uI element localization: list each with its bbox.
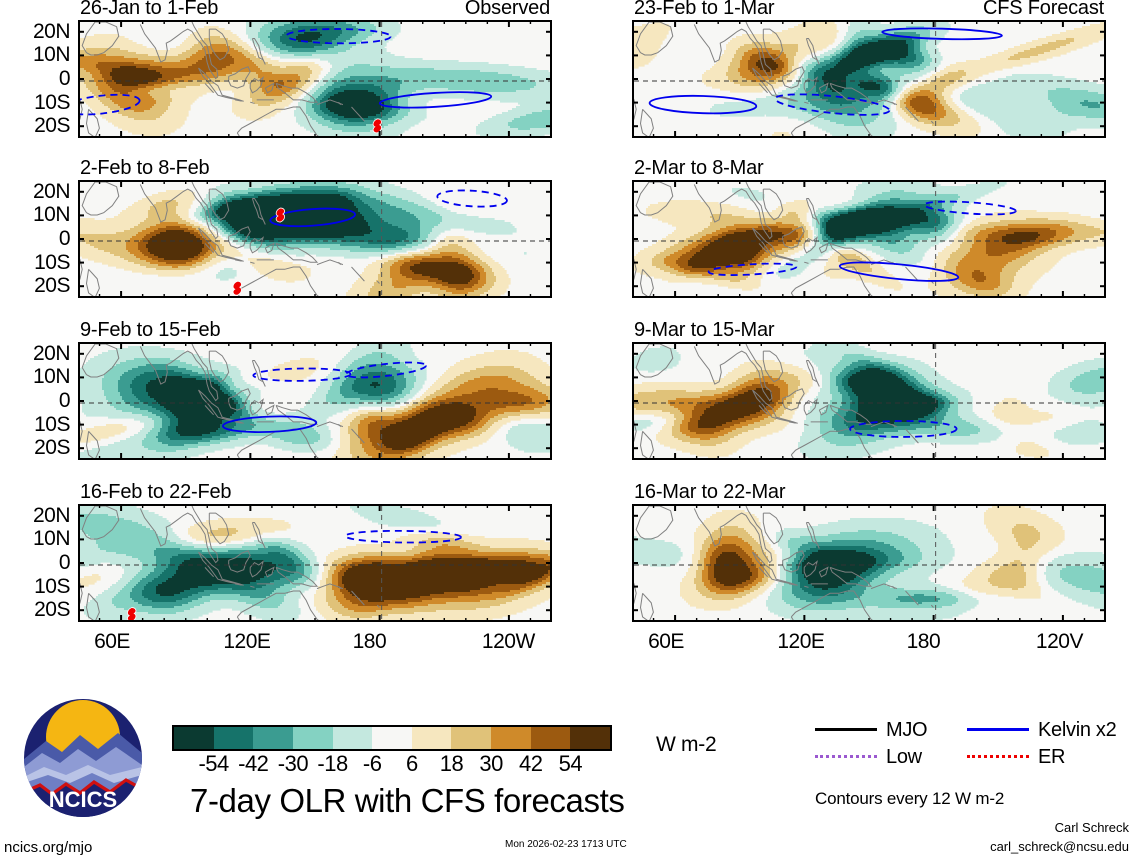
panel-title: 16-Mar to 22-Mar <box>634 482 785 502</box>
colorbar-tick-label: -30 <box>278 752 308 776</box>
axis-ticks <box>632 20 1106 138</box>
colorbar-tick-label: 6 <box>406 752 418 776</box>
colorbar-segment <box>214 727 254 749</box>
ncics-logo-text: NCICS <box>49 787 117 812</box>
contour-legend: MJOKelvin x2LowER <box>815 716 1135 770</box>
colorbar-tick-label: 30 <box>479 752 502 776</box>
legend-row: LowER <box>815 743 1135 770</box>
legend-label: ER <box>1038 747 1065 767</box>
panel-title: 26-Jan to 1-Feb <box>80 0 218 18</box>
legend-row: MJOKelvin x2 <box>815 716 1135 743</box>
x-tick-label: 60E <box>648 631 684 652</box>
legend-item-kelvin-x2: Kelvin x2 <box>967 720 1119 740</box>
panel-23-feb-to-1-mar: 23-Feb to 1-MarCFS Forecast <box>632 20 1106 138</box>
panel-26-jan-to-1-feb: 26-Jan to 1-FebObserved <box>78 20 552 138</box>
legend-item-er: ER <box>967 747 1119 767</box>
axis-ticks <box>78 180 552 298</box>
y-tick-label: 10N <box>4 44 70 65</box>
panel-title: 23-Feb to 1-Mar <box>634 0 774 18</box>
colorbar-segment <box>372 727 412 749</box>
axis-ticks <box>78 20 552 138</box>
y-tick-label: 0 <box>4 68 70 89</box>
colorbar: -54-42-30-18-6618304254 <box>172 725 612 778</box>
colorbar-tick-label: -6 <box>363 752 382 776</box>
panel-2-mar-to-8-mar: 2-Mar to 8-Mar <box>632 180 1106 298</box>
y-tick-label: 20N <box>4 343 70 364</box>
colorbar-segment <box>412 727 452 749</box>
y-tick-label: 10S <box>4 576 70 597</box>
colorbar-segment <box>293 727 333 749</box>
colorbar-segment <box>253 727 293 749</box>
x-tick-label: 120V <box>1036 631 1083 652</box>
colorbar-segment <box>451 727 491 749</box>
legend-label: Kelvin x2 <box>1038 720 1116 740</box>
y-tick-label: 20N <box>4 21 70 42</box>
x-tick-label: 120E <box>223 631 270 652</box>
panel-title: 2-Feb to 8-Feb <box>80 158 210 178</box>
y-tick-label: 20N <box>4 181 70 202</box>
y-tick-label: 10N <box>4 366 70 387</box>
y-tick-label: 20S <box>4 599 70 620</box>
axis-ticks <box>78 504 552 622</box>
panel-title: 9-Feb to 15-Feb <box>80 320 220 340</box>
y-tick-label: 20S <box>4 115 70 136</box>
panel-9-feb-to-15-feb: 9-Feb to 15-Feb <box>78 342 552 460</box>
x-tick-label: 120E <box>777 631 824 652</box>
y-tick-label: 0 <box>4 228 70 249</box>
y-tick-label: 0 <box>4 552 70 573</box>
legend-label: Low <box>886 747 922 767</box>
x-tick-label: 180 <box>353 631 387 652</box>
site-url-label: ncics.org/mjo <box>4 840 92 855</box>
colorbar-tick-label: -42 <box>238 752 268 776</box>
colorbar-tick-label: -54 <box>198 752 228 776</box>
colorbar-tick-label: -18 <box>317 752 347 776</box>
figure-main-title: 7-day OLR with CFS forecasts <box>190 784 624 817</box>
colorbar-swatches <box>172 725 612 751</box>
column-header: CFS Forecast <box>983 0 1104 18</box>
author-email: carl_schreck@ncsu.edu <box>990 839 1129 854</box>
contour-interval-note: Contours every 12 W m-2 <box>815 790 1004 807</box>
x-tick-label: 180 <box>907 631 941 652</box>
legend-item-mjo: MJO <box>815 720 967 740</box>
panel-16-mar-to-22-mar: 16-Mar to 22-Mar <box>632 504 1106 622</box>
axis-ticks <box>632 504 1106 622</box>
colorbar-segment <box>531 727 571 749</box>
colorbar-ticklabels: -54-42-30-18-6618304254 <box>172 752 612 778</box>
olr-forecast-figure: 26-Jan to 1-FebObserved23-Feb to 1-MarCF… <box>0 0 1135 860</box>
column-header: Observed <box>465 0 550 18</box>
legend-line-swatch <box>815 755 877 758</box>
colorbar-units-label: W m-2 <box>656 734 716 755</box>
axis-ticks <box>78 342 552 460</box>
panel-9-mar-to-15-mar: 9-Mar to 15-Mar <box>632 342 1106 460</box>
panel-16-feb-to-22-feb: 16-Feb to 22-Feb <box>78 504 552 622</box>
y-tick-label: 10S <box>4 252 70 273</box>
panel-title: 9-Mar to 15-Mar <box>634 320 774 340</box>
author-name: Carl Schreck <box>1055 820 1129 835</box>
legend-line-swatch <box>815 728 877 731</box>
generation-timestamp: Mon 2026-02-23 1713 UTC <box>505 840 627 850</box>
y-tick-label: 10N <box>4 204 70 225</box>
colorbar-tick-label: 18 <box>440 752 463 776</box>
y-tick-label: 0 <box>4 390 70 411</box>
ncics-logo: NCICS <box>22 697 144 819</box>
y-tick-label: 10S <box>4 414 70 435</box>
ncics-logo-graphic: NCICS <box>22 697 144 819</box>
colorbar-segment <box>491 727 531 749</box>
colorbar-tick-label: 42 <box>519 752 542 776</box>
colorbar-segment <box>333 727 373 749</box>
legend-line-swatch <box>967 755 1029 758</box>
legend-line-swatch <box>967 728 1029 731</box>
axis-ticks <box>632 180 1106 298</box>
legend-item-low: Low <box>815 747 967 767</box>
x-tick-label: 120W <box>482 631 535 652</box>
panel-title: 2-Mar to 8-Mar <box>634 158 763 178</box>
panel-title: 16-Feb to 22-Feb <box>80 482 231 502</box>
panel-2-feb-to-8-feb: 2-Feb to 8-Feb <box>78 180 552 298</box>
y-tick-label: 20S <box>4 275 70 296</box>
y-tick-label: 10N <box>4 528 70 549</box>
y-tick-label: 10S <box>4 92 70 113</box>
legend-label: MJO <box>886 720 927 740</box>
colorbar-segment <box>174 727 214 749</box>
colorbar-segment <box>570 727 610 749</box>
axis-ticks <box>632 342 1106 460</box>
y-tick-label: 20S <box>4 437 70 458</box>
colorbar-tick-label: 54 <box>559 752 582 776</box>
y-tick-label: 20N <box>4 505 70 526</box>
x-tick-label: 60E <box>94 631 130 652</box>
